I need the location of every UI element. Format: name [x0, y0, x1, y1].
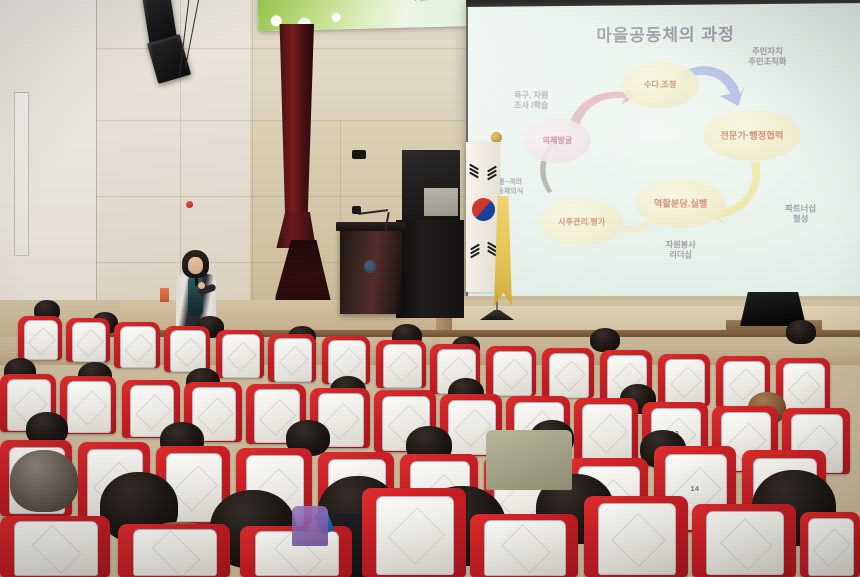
seat[interactable] — [60, 376, 116, 434]
seat[interactable] — [0, 516, 110, 577]
seat[interactable] — [800, 512, 860, 577]
cycle-node-2: 전문가·행정협력 — [703, 110, 800, 161]
korean-flag-icon — [466, 142, 500, 292]
audience-torso — [486, 430, 572, 490]
fire-alarm-icon — [186, 201, 193, 208]
seat[interactable] — [486, 346, 536, 396]
av-screen — [424, 188, 458, 216]
podium-microphone-icon — [352, 206, 394, 230]
cycle-node-1: 수다.조정 — [621, 62, 699, 109]
seat[interactable] — [692, 504, 796, 577]
seat[interactable] — [376, 340, 426, 388]
audience-seating: 13 14 — [0, 300, 860, 577]
seat[interactable] — [216, 330, 264, 378]
audience-head — [786, 320, 816, 344]
annotation-partnership: 파트너십 형성 — [761, 204, 840, 225]
seat[interactable] — [470, 514, 578, 577]
presenter-hand — [198, 282, 205, 289]
audience-torso — [292, 506, 328, 546]
cycle-node-5: 의제발굴 — [524, 119, 591, 163]
wall-light-strip — [14, 92, 29, 256]
audience-head — [590, 328, 620, 352]
seat[interactable] — [118, 524, 230, 577]
cycle-node-3: 역할분담.실행 — [636, 179, 726, 228]
ceiling-speaker-cluster — [140, 0, 250, 104]
wall-seam — [96, 0, 97, 330]
annotation-volunteer: 자원봉사 리더십 — [642, 240, 720, 261]
seat[interactable] — [66, 318, 110, 362]
podium-emblem — [364, 260, 376, 273]
seat[interactable] — [584, 496, 688, 577]
wall-bracket — [352, 150, 366, 159]
seat-number: 14 — [654, 486, 736, 493]
seat[interactable] — [658, 354, 710, 406]
slide-cycle-diagram: 수다.조정 전문가·행정협력 역할분담.실행 사후관리.평가 의제발굴 욕구, … — [468, 3, 860, 311]
conference-photo: 마을공동체 주민역량강화 교육 일시: 2019.10.8.(화) 15:00~… — [0, 0, 860, 577]
stage-curtain — [270, 24, 316, 324]
wall-seam — [252, 0, 253, 300]
seat[interactable] — [18, 316, 62, 360]
cycle-node-4: 사후관리.평가 — [540, 199, 623, 246]
presenter-face — [188, 257, 203, 274]
annotation-autonomy: 주민자치 주민조직화 — [720, 46, 816, 67]
projected-slide: 마을공동체의 과정 수다.조정 — [468, 3, 860, 311]
seat[interactable] — [362, 488, 466, 577]
speaker-icon — [147, 34, 191, 84]
annotation-needs: 욕구, 자원 조사 /학습 — [498, 91, 564, 111]
seat[interactable] — [164, 326, 210, 372]
audience-head — [10, 450, 78, 512]
taeguk-symbol — [468, 194, 499, 225]
seat[interactable] — [574, 398, 638, 462]
projection-screen: 마을공동체의 과정 수다.조정 — [466, 0, 860, 322]
seat[interactable] — [542, 348, 594, 398]
seat[interactable] — [268, 334, 316, 382]
seat[interactable] — [114, 322, 160, 368]
